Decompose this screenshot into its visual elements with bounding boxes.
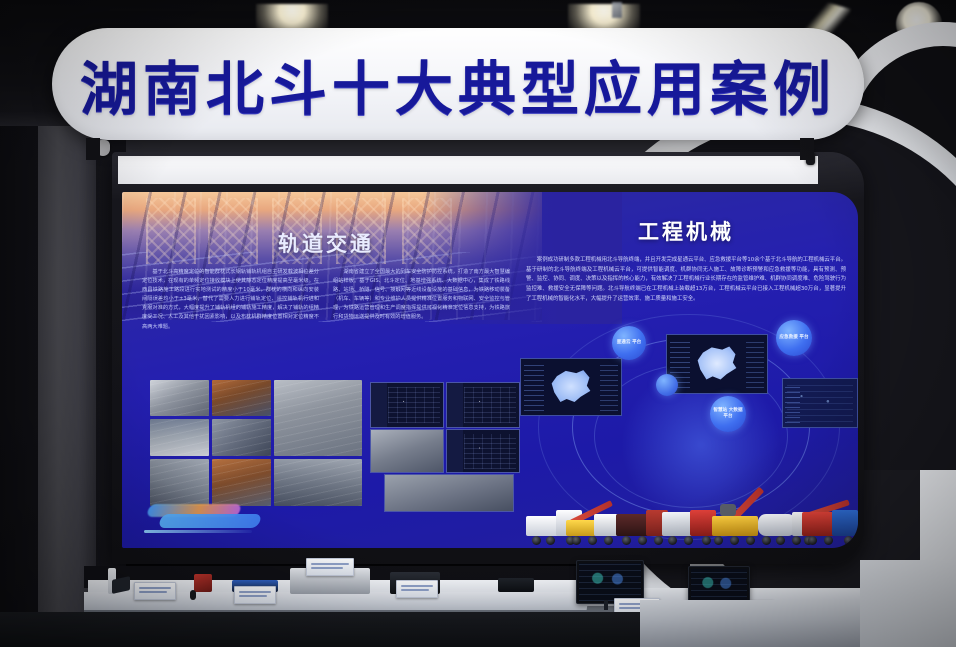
construction-vehicle-lineup bbox=[520, 448, 856, 546]
spotlight-3-icon bbox=[612, 2, 622, 18]
truck-red-dark bbox=[616, 502, 668, 542]
china-map-graphic bbox=[695, 344, 739, 382]
tablet-stand-left bbox=[604, 600, 608, 610]
panel-rail-transit: 轨道交通 基于北斗高精度定位的智能群枕式长钢轨铺轨机组自主研发载波相位差分定位技… bbox=[142, 228, 510, 332]
bubble-small-node bbox=[656, 374, 678, 396]
exhibition-scene: 轨道交通 基于北斗高精度定位的智能群枕式长钢轨铺轨机组自主研发载波相位差分定位技… bbox=[0, 0, 956, 647]
wall-right-light bbox=[860, 560, 956, 647]
mosaic-photo-large bbox=[274, 380, 362, 456]
software-screenshot bbox=[446, 429, 520, 473]
software-screenshot bbox=[446, 382, 520, 428]
panel-construction-machinery: 工程机械 案例成功研制多款工程机械用北斗导航终端，并且开发完成星通云平台、应急救… bbox=[526, 216, 846, 305]
red-handheld-device bbox=[194, 574, 212, 592]
pump-truck-red bbox=[802, 490, 858, 542]
cloud-platform-illustration: 星通云 平台 应急救援 平台 智慧站 大数据 平台 bbox=[520, 320, 856, 548]
china-map-dashboard-left bbox=[520, 358, 622, 416]
panel-title-rail-transit: 轨道交通 bbox=[142, 228, 510, 258]
software-screenshot bbox=[370, 382, 444, 428]
bubble-emergency-rescue-platform: 应急救援 平台 bbox=[776, 320, 812, 356]
banner-stand-right bbox=[800, 138, 814, 160]
software-screenshot-cluster bbox=[370, 382, 520, 510]
construction-machinery-paragraph: 案例成功研制多款工程机械用北斗导航终端，并且开发完成星通云平台、应急救援平台等1… bbox=[526, 256, 846, 305]
mosaic-photo bbox=[150, 380, 209, 416]
placard-2 bbox=[234, 586, 276, 604]
mosaic-photo bbox=[212, 380, 271, 416]
mosaic-photo bbox=[150, 419, 209, 455]
placard-4 bbox=[396, 580, 438, 598]
aerial-photo bbox=[370, 429, 444, 473]
placard-1 bbox=[134, 582, 176, 600]
screen-top-lightstrip bbox=[118, 156, 818, 184]
red-device-cable bbox=[190, 590, 196, 600]
mosaic-photo bbox=[212, 419, 271, 455]
data-dashboard-right bbox=[782, 378, 858, 428]
truck-yellow-crane bbox=[564, 498, 620, 542]
bubble-xingtong-cloud-platform: 星通云 平台 bbox=[612, 326, 646, 360]
rail-transit-paragraph-1: 基于北斗高精度定位的智能群枕式长钢轨铺轨机组自主研发载波相位差分定位技术，在现有… bbox=[142, 268, 319, 332]
aerial-photo-wide bbox=[384, 474, 514, 512]
bubble-smart-station-bigdata-platform: 智慧站 大数据 平台 bbox=[710, 396, 746, 432]
decorative-ribbon bbox=[144, 502, 264, 536]
panel-title-construction-machinery: 工程机械 bbox=[526, 216, 846, 246]
mosaic-photo bbox=[212, 459, 271, 506]
placard-3 bbox=[306, 558, 354, 576]
mosaic-photo bbox=[274, 459, 362, 506]
led-display-screen[interactable]: 轨道交通 基于北斗高精度定位的智能群枕式长钢轨铺轨机组自主研发载波相位差分定位技… bbox=[122, 192, 858, 548]
black-device-right bbox=[498, 578, 534, 592]
mosaic-photo bbox=[150, 459, 209, 506]
china-map-dashboard-center bbox=[666, 334, 768, 394]
railway-photo-mosaic bbox=[150, 380, 362, 506]
rail-transit-paragraph-2: 湖南省建立了全国最大的列车安全防护防控系统，打造了南方最大智慧编组站样板。基于G… bbox=[333, 268, 510, 323]
banner-stand-left bbox=[86, 138, 100, 160]
page-title: 湖南北斗十大典型应用案例 bbox=[52, 28, 864, 140]
china-map-graphic bbox=[549, 368, 593, 405]
